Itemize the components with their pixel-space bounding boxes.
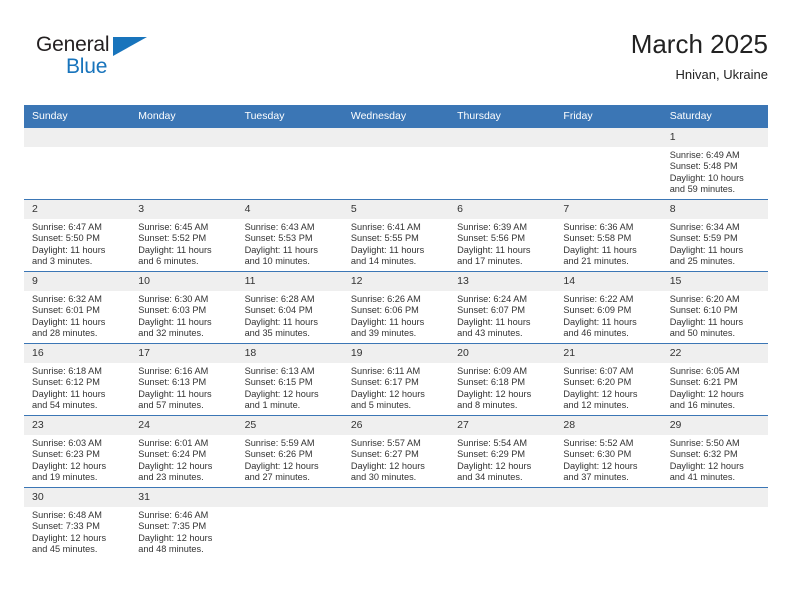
day-number: 10 <box>130 272 236 291</box>
weekday-header-wednesday: Wednesday <box>343 105 449 128</box>
day-number: 16 <box>24 344 130 363</box>
daylight-text-line2: and 1 minute. <box>245 400 337 411</box>
daylight-text-line1: Daylight: 11 hours <box>670 317 762 328</box>
day-number: 6 <box>449 200 555 219</box>
sunrise-text: Sunrise: 6:36 AM <box>563 222 655 233</box>
calendar-week-row: 30Sunrise: 6:48 AMSunset: 7:33 PMDayligh… <box>24 488 768 560</box>
daylight-text-line2: and 57 minutes. <box>138 400 230 411</box>
calendar-day-cell[interactable]: 13Sunrise: 6:24 AMSunset: 6:07 PMDayligh… <box>449 272 555 344</box>
calendar-page: General Blue March 2025 Hnivan, Ukraine … <box>0 0 792 612</box>
sunrise-text: Sunrise: 5:59 AM <box>245 438 337 449</box>
calendar-cell-empty <box>24 128 130 200</box>
daylight-text-line2: and 21 minutes. <box>563 256 655 267</box>
sunset-text: Sunset: 5:58 PM <box>563 233 655 244</box>
sunset-text: Sunset: 6:26 PM <box>245 449 337 460</box>
day-number: 27 <box>449 416 555 435</box>
calendar-day-cell[interactable]: 25Sunrise: 5:59 AMSunset: 6:26 PMDayligh… <box>237 416 343 488</box>
day-number: 31 <box>130 488 236 507</box>
sun-info: Sunrise: 6:16 AMSunset: 6:13 PMDaylight:… <box>130 363 236 412</box>
sunrise-text: Sunrise: 6:32 AM <box>32 294 124 305</box>
sunset-text: Sunset: 7:35 PM <box>138 521 230 532</box>
calendar-day-cell[interactable]: 9Sunrise: 6:32 AMSunset: 6:01 PMDaylight… <box>24 272 130 344</box>
daylight-text-line1: Daylight: 11 hours <box>138 389 230 400</box>
calendar-cell-empty <box>237 128 343 200</box>
sun-info: Sunrise: 6:05 AMSunset: 6:21 PMDaylight:… <box>662 363 768 412</box>
sun-info: Sunrise: 5:50 AMSunset: 6:32 PMDaylight:… <box>662 435 768 484</box>
day-number: 26 <box>343 416 449 435</box>
sunrise-text: Sunrise: 6:49 AM <box>670 150 762 161</box>
calendar-day-cell[interactable]: 4Sunrise: 6:43 AMSunset: 5:53 PMDaylight… <box>237 200 343 272</box>
calendar-cell-empty <box>555 128 661 200</box>
day-number: 25 <box>237 416 343 435</box>
daylight-text-line1: Daylight: 11 hours <box>32 389 124 400</box>
daylight-text-line2: and 59 minutes. <box>670 184 762 195</box>
calendar-cell-empty <box>343 488 449 560</box>
day-number <box>343 128 449 147</box>
sun-info: Sunrise: 6:09 AMSunset: 6:18 PMDaylight:… <box>449 363 555 412</box>
calendar-day-cell[interactable]: 22Sunrise: 6:05 AMSunset: 6:21 PMDayligh… <box>662 344 768 416</box>
daylight-text-line1: Daylight: 11 hours <box>670 245 762 256</box>
daylight-text-line1: Daylight: 12 hours <box>32 533 124 544</box>
daylight-text-line2: and 45 minutes. <box>32 544 124 555</box>
calendar-day-cell[interactable]: 3Sunrise: 6:45 AMSunset: 5:52 PMDaylight… <box>130 200 236 272</box>
sunrise-text: Sunrise: 5:57 AM <box>351 438 443 449</box>
calendar-day-cell[interactable]: 14Sunrise: 6:22 AMSunset: 6:09 PMDayligh… <box>555 272 661 344</box>
daylight-text-line1: Daylight: 11 hours <box>245 245 337 256</box>
sun-info: Sunrise: 6:03 AMSunset: 6:23 PMDaylight:… <box>24 435 130 484</box>
sunrise-text: Sunrise: 6:20 AM <box>670 294 762 305</box>
sunset-text: Sunset: 5:53 PM <box>245 233 337 244</box>
calendar-cell-empty <box>237 488 343 560</box>
weekday-header-row: Sunday Monday Tuesday Wednesday Thursday… <box>24 105 768 128</box>
sunrise-text: Sunrise: 6:28 AM <box>245 294 337 305</box>
sun-info: Sunrise: 6:46 AMSunset: 7:35 PMDaylight:… <box>130 507 236 556</box>
daylight-text-line2: and 28 minutes. <box>32 328 124 339</box>
weekday-header-monday: Monday <box>130 105 236 128</box>
day-number: 12 <box>343 272 449 291</box>
calendar-day-cell[interactable]: 17Sunrise: 6:16 AMSunset: 6:13 PMDayligh… <box>130 344 236 416</box>
page-title: March 2025 <box>631 28 768 60</box>
daylight-text-line2: and 25 minutes. <box>670 256 762 267</box>
sunset-text: Sunset: 6:10 PM <box>670 305 762 316</box>
sun-info: Sunrise: 6:48 AMSunset: 7:33 PMDaylight:… <box>24 507 130 556</box>
sun-info: Sunrise: 6:32 AMSunset: 6:01 PMDaylight:… <box>24 291 130 340</box>
calendar-day-cell[interactable]: 11Sunrise: 6:28 AMSunset: 6:04 PMDayligh… <box>237 272 343 344</box>
page-subtitle: Hnivan, Ukraine <box>631 66 768 84</box>
sunset-text: Sunset: 6:32 PM <box>670 449 762 460</box>
sunset-text: Sunset: 5:52 PM <box>138 233 230 244</box>
daylight-text-line1: Daylight: 11 hours <box>32 245 124 256</box>
sun-info: Sunrise: 6:39 AMSunset: 5:56 PMDaylight:… <box>449 219 555 268</box>
daylight-text-line2: and 8 minutes. <box>457 400 549 411</box>
calendar-header-row: Sunday Monday Tuesday Wednesday Thursday… <box>24 105 768 128</box>
sunset-text: Sunset: 6:06 PM <box>351 305 443 316</box>
sunset-text: Sunset: 5:56 PM <box>457 233 549 244</box>
sunrise-text: Sunrise: 6:34 AM <box>670 222 762 233</box>
sun-info: Sunrise: 6:18 AMSunset: 6:12 PMDaylight:… <box>24 363 130 412</box>
daylight-text-line2: and 17 minutes. <box>457 256 549 267</box>
sun-info: Sunrise: 6:41 AMSunset: 5:55 PMDaylight:… <box>343 219 449 268</box>
calendar-body: 1Sunrise: 6:49 AMSunset: 5:48 PMDaylight… <box>24 128 768 560</box>
sunset-text: Sunset: 6:20 PM <box>563 377 655 388</box>
weekday-header-saturday: Saturday <box>662 105 768 128</box>
sun-info: Sunrise: 6:47 AMSunset: 5:50 PMDaylight:… <box>24 219 130 268</box>
sunrise-text: Sunrise: 6:05 AM <box>670 366 762 377</box>
weekday-header-tuesday: Tuesday <box>237 105 343 128</box>
sun-info: Sunrise: 6:49 AMSunset: 5:48 PMDaylight:… <box>662 147 768 196</box>
sunrise-text: Sunrise: 6:24 AM <box>457 294 549 305</box>
sunrise-text: Sunrise: 5:52 AM <box>563 438 655 449</box>
day-number: 28 <box>555 416 661 435</box>
calendar-day-cell[interactable]: 29Sunrise: 5:50 AMSunset: 6:32 PMDayligh… <box>662 416 768 488</box>
sunset-text: Sunset: 6:03 PM <box>138 305 230 316</box>
daylight-text-line1: Daylight: 11 hours <box>351 317 443 328</box>
daylight-text-line2: and 43 minutes. <box>457 328 549 339</box>
daylight-text-line1: Daylight: 12 hours <box>457 461 549 472</box>
day-number: 11 <box>237 272 343 291</box>
sun-info: Sunrise: 5:52 AMSunset: 6:30 PMDaylight:… <box>555 435 661 484</box>
day-number <box>24 128 130 147</box>
daylight-text-line1: Daylight: 12 hours <box>563 461 655 472</box>
calendar-day-cell[interactable]: 15Sunrise: 6:20 AMSunset: 6:10 PMDayligh… <box>662 272 768 344</box>
day-number <box>130 128 236 147</box>
calendar-day-cell[interactable]: 31Sunrise: 6:46 AMSunset: 7:35 PMDayligh… <box>130 488 236 560</box>
day-number: 23 <box>24 416 130 435</box>
sun-info: Sunrise: 6:20 AMSunset: 6:10 PMDaylight:… <box>662 291 768 340</box>
daylight-text-line2: and 14 minutes. <box>351 256 443 267</box>
sun-info: Sunrise: 5:57 AMSunset: 6:27 PMDaylight:… <box>343 435 449 484</box>
day-number: 14 <box>555 272 661 291</box>
calendar-cell-empty <box>555 488 661 560</box>
sunrise-text: Sunrise: 6:22 AM <box>563 294 655 305</box>
day-number: 17 <box>130 344 236 363</box>
sun-info: Sunrise: 6:11 AMSunset: 6:17 PMDaylight:… <box>343 363 449 412</box>
calendar-day-cell[interactable]: 23Sunrise: 6:03 AMSunset: 6:23 PMDayligh… <box>24 416 130 488</box>
day-number: 15 <box>662 272 768 291</box>
sunrise-text: Sunrise: 5:54 AM <box>457 438 549 449</box>
logo-text-blue: Blue <box>66 56 107 78</box>
sunset-text: Sunset: 5:55 PM <box>351 233 443 244</box>
day-number <box>237 128 343 147</box>
sunset-text: Sunset: 5:50 PM <box>32 233 124 244</box>
calendar-day-cell[interactable]: 1Sunrise: 6:49 AMSunset: 5:48 PMDaylight… <box>662 128 768 200</box>
calendar-week-row: 1Sunrise: 6:49 AMSunset: 5:48 PMDaylight… <box>24 128 768 200</box>
daylight-text-line2: and 39 minutes. <box>351 328 443 339</box>
day-number: 21 <box>555 344 661 363</box>
sunset-text: Sunset: 6:23 PM <box>32 449 124 460</box>
sunrise-text: Sunrise: 5:50 AM <box>670 438 762 449</box>
daylight-text-line1: Daylight: 12 hours <box>563 389 655 400</box>
calendar-day-cell[interactable]: 7Sunrise: 6:36 AMSunset: 5:58 PMDaylight… <box>555 200 661 272</box>
day-number: 3 <box>130 200 236 219</box>
sunset-text: Sunset: 6:15 PM <box>245 377 337 388</box>
calendar-day-cell[interactable]: 21Sunrise: 6:07 AMSunset: 6:20 PMDayligh… <box>555 344 661 416</box>
sunrise-text: Sunrise: 6:47 AM <box>32 222 124 233</box>
daylight-text-line1: Daylight: 11 hours <box>563 317 655 328</box>
daylight-text-line1: Daylight: 10 hours <box>670 173 762 184</box>
daylight-text-line2: and 41 minutes. <box>670 472 762 483</box>
calendar-cell-empty <box>449 128 555 200</box>
calendar-week-row: 23Sunrise: 6:03 AMSunset: 6:23 PMDayligh… <box>24 416 768 488</box>
calendar-cell-empty <box>449 488 555 560</box>
calendar-day-cell[interactable]: 30Sunrise: 6:48 AMSunset: 7:33 PMDayligh… <box>24 488 130 560</box>
calendar-day-cell[interactable]: 26Sunrise: 5:57 AMSunset: 6:27 PMDayligh… <box>343 416 449 488</box>
daylight-text-line1: Daylight: 11 hours <box>457 317 549 328</box>
day-number: 20 <box>449 344 555 363</box>
sunset-text: Sunset: 6:24 PM <box>138 449 230 460</box>
sunset-text: Sunset: 6:30 PM <box>563 449 655 460</box>
sunset-text: Sunset: 6:07 PM <box>457 305 549 316</box>
calendar-cell-empty <box>343 128 449 200</box>
daylight-text-line1: Daylight: 12 hours <box>351 461 443 472</box>
calendar-week-row: 9Sunrise: 6:32 AMSunset: 6:01 PMDaylight… <box>24 272 768 344</box>
general-blue-logo: General Blue <box>36 34 186 92</box>
calendar-day-cell[interactable]: 2Sunrise: 6:47 AMSunset: 5:50 PMDaylight… <box>24 200 130 272</box>
daylight-text-line2: and 46 minutes. <box>563 328 655 339</box>
title-block: March 2025 Hnivan, Ukraine <box>631 28 768 84</box>
sunset-text: Sunset: 6:29 PM <box>457 449 549 460</box>
day-number: 9 <box>24 272 130 291</box>
daylight-text-line1: Daylight: 12 hours <box>138 533 230 544</box>
sun-info: Sunrise: 6:45 AMSunset: 5:52 PMDaylight:… <box>130 219 236 268</box>
daylight-text-line2: and 5 minutes. <box>351 400 443 411</box>
day-number <box>449 128 555 147</box>
sunset-text: Sunset: 6:17 PM <box>351 377 443 388</box>
daylight-text-line1: Daylight: 12 hours <box>670 389 762 400</box>
daylight-text-line1: Daylight: 11 hours <box>138 317 230 328</box>
daylight-text-line1: Daylight: 12 hours <box>138 461 230 472</box>
daylight-text-line2: and 23 minutes. <box>138 472 230 483</box>
calendar-day-cell[interactable]: 5Sunrise: 6:41 AMSunset: 5:55 PMDaylight… <box>343 200 449 272</box>
sunset-text: Sunset: 6:18 PM <box>457 377 549 388</box>
daylight-text-line2: and 35 minutes. <box>245 328 337 339</box>
daylight-text-line1: Daylight: 12 hours <box>32 461 124 472</box>
calendar-table: Sunday Monday Tuesday Wednesday Thursday… <box>24 105 768 560</box>
day-number: 19 <box>343 344 449 363</box>
sunrise-text: Sunrise: 6:46 AM <box>138 510 230 521</box>
calendar-day-cell[interactable]: 18Sunrise: 6:13 AMSunset: 6:15 PMDayligh… <box>237 344 343 416</box>
daylight-text-line2: and 54 minutes. <box>32 400 124 411</box>
day-number <box>237 488 343 507</box>
day-number: 13 <box>449 272 555 291</box>
daylight-text-line2: and 32 minutes. <box>138 328 230 339</box>
day-number <box>449 488 555 507</box>
sun-info: Sunrise: 6:22 AMSunset: 6:09 PMDaylight:… <box>555 291 661 340</box>
sunrise-text: Sunrise: 6:48 AM <box>32 510 124 521</box>
sun-info: Sunrise: 6:30 AMSunset: 6:03 PMDaylight:… <box>130 291 236 340</box>
calendar-day-cell[interactable]: 20Sunrise: 6:09 AMSunset: 6:18 PMDayligh… <box>449 344 555 416</box>
sun-info: Sunrise: 6:34 AMSunset: 5:59 PMDaylight:… <box>662 219 768 268</box>
sunset-text: Sunset: 6:13 PM <box>138 377 230 388</box>
daylight-text-line1: Daylight: 11 hours <box>138 245 230 256</box>
sun-info: Sunrise: 6:43 AMSunset: 5:53 PMDaylight:… <box>237 219 343 268</box>
daylight-text-line1: Daylight: 11 hours <box>245 317 337 328</box>
day-number: 24 <box>130 416 236 435</box>
daylight-text-line2: and 10 minutes. <box>245 256 337 267</box>
daylight-text-line1: Daylight: 12 hours <box>245 389 337 400</box>
calendar-day-cell[interactable]: 28Sunrise: 5:52 AMSunset: 6:30 PMDayligh… <box>555 416 661 488</box>
sunset-text: Sunset: 5:48 PM <box>670 161 762 172</box>
sunset-text: Sunset: 6:12 PM <box>32 377 124 388</box>
daylight-text-line2: and 12 minutes. <box>563 400 655 411</box>
daylight-text-line2: and 16 minutes. <box>670 400 762 411</box>
calendar-day-cell[interactable]: 24Sunrise: 6:01 AMSunset: 6:24 PMDayligh… <box>130 416 236 488</box>
daylight-text-line1: Daylight: 11 hours <box>32 317 124 328</box>
daylight-text-line2: and 34 minutes. <box>457 472 549 483</box>
sunrise-text: Sunrise: 6:45 AM <box>138 222 230 233</box>
calendar-week-row: 16Sunrise: 6:18 AMSunset: 6:12 PMDayligh… <box>24 344 768 416</box>
sunset-text: Sunset: 6:21 PM <box>670 377 762 388</box>
daylight-text-line2: and 30 minutes. <box>351 472 443 483</box>
sun-info: Sunrise: 6:13 AMSunset: 6:15 PMDaylight:… <box>237 363 343 412</box>
day-number: 4 <box>237 200 343 219</box>
daylight-text-line2: and 27 minutes. <box>245 472 337 483</box>
sun-info: Sunrise: 6:24 AMSunset: 6:07 PMDaylight:… <box>449 291 555 340</box>
sunset-text: Sunset: 6:27 PM <box>351 449 443 460</box>
day-number: 18 <box>237 344 343 363</box>
sunset-text: Sunset: 6:04 PM <box>245 305 337 316</box>
sunrise-text: Sunrise: 6:30 AM <box>138 294 230 305</box>
sunrise-text: Sunrise: 6:26 AM <box>351 294 443 305</box>
sunrise-text: Sunrise: 6:41 AM <box>351 222 443 233</box>
calendar-day-cell[interactable]: 8Sunrise: 6:34 AMSunset: 5:59 PMDaylight… <box>662 200 768 272</box>
calendar-cell-empty <box>130 128 236 200</box>
sunset-text: Sunset: 6:01 PM <box>32 305 124 316</box>
sun-info: Sunrise: 6:01 AMSunset: 6:24 PMDaylight:… <box>130 435 236 484</box>
sunrise-text: Sunrise: 6:13 AM <box>245 366 337 377</box>
logo-text-general: General <box>36 34 186 56</box>
sunrise-text: Sunrise: 6:01 AM <box>138 438 230 449</box>
sunset-text: Sunset: 5:59 PM <box>670 233 762 244</box>
daylight-text-line2: and 19 minutes. <box>32 472 124 483</box>
daylight-text-line2: and 3 minutes. <box>32 256 124 267</box>
daylight-text-line1: Daylight: 11 hours <box>563 245 655 256</box>
sunset-text: Sunset: 7:33 PM <box>32 521 124 532</box>
daylight-text-line1: Daylight: 12 hours <box>457 389 549 400</box>
sunset-text: Sunset: 6:09 PM <box>563 305 655 316</box>
sun-info: Sunrise: 6:36 AMSunset: 5:58 PMDaylight:… <box>555 219 661 268</box>
calendar-day-cell[interactable]: 19Sunrise: 6:11 AMSunset: 6:17 PMDayligh… <box>343 344 449 416</box>
day-number: 22 <box>662 344 768 363</box>
sunrise-text: Sunrise: 6:03 AM <box>32 438 124 449</box>
daylight-text-line2: and 50 minutes. <box>670 328 762 339</box>
sun-info: Sunrise: 5:54 AMSunset: 6:29 PMDaylight:… <box>449 435 555 484</box>
sun-info: Sunrise: 6:07 AMSunset: 6:20 PMDaylight:… <box>555 363 661 412</box>
daylight-text-line1: Daylight: 11 hours <box>351 245 443 256</box>
day-number <box>343 488 449 507</box>
day-number <box>662 488 768 507</box>
day-number <box>555 128 661 147</box>
day-number: 2 <box>24 200 130 219</box>
daylight-text-line1: Daylight: 12 hours <box>670 461 762 472</box>
day-number <box>555 488 661 507</box>
daylight-text-line1: Daylight: 12 hours <box>245 461 337 472</box>
day-number: 30 <box>24 488 130 507</box>
day-number: 5 <box>343 200 449 219</box>
sunrise-text: Sunrise: 6:43 AM <box>245 222 337 233</box>
weekday-header-sunday: Sunday <box>24 105 130 128</box>
daylight-text-line2: and 6 minutes. <box>138 256 230 267</box>
calendar-day-cell[interactable]: 10Sunrise: 6:30 AMSunset: 6:03 PMDayligh… <box>130 272 236 344</box>
calendar-cell-empty <box>662 488 768 560</box>
page-header: General Blue March 2025 Hnivan, Ukraine <box>24 28 768 100</box>
calendar-day-cell[interactable]: 12Sunrise: 6:26 AMSunset: 6:06 PMDayligh… <box>343 272 449 344</box>
daylight-text-line1: Daylight: 12 hours <box>351 389 443 400</box>
day-number: 8 <box>662 200 768 219</box>
weekday-header-thursday: Thursday <box>449 105 555 128</box>
sun-info: Sunrise: 6:26 AMSunset: 6:06 PMDaylight:… <box>343 291 449 340</box>
calendar-day-cell[interactable]: 27Sunrise: 5:54 AMSunset: 6:29 PMDayligh… <box>449 416 555 488</box>
daylight-text-line1: Daylight: 11 hours <box>457 245 549 256</box>
calendar-week-row: 2Sunrise: 6:47 AMSunset: 5:50 PMDaylight… <box>24 200 768 272</box>
day-number: 7 <box>555 200 661 219</box>
sunrise-text: Sunrise: 6:39 AM <box>457 222 549 233</box>
calendar-day-cell[interactable]: 16Sunrise: 6:18 AMSunset: 6:12 PMDayligh… <box>24 344 130 416</box>
sunrise-text: Sunrise: 6:18 AM <box>32 366 124 377</box>
day-number: 1 <box>662 128 768 147</box>
sun-info: Sunrise: 5:59 AMSunset: 6:26 PMDaylight:… <box>237 435 343 484</box>
triangle-icon <box>113 37 147 56</box>
sunrise-text: Sunrise: 6:11 AM <box>351 366 443 377</box>
sunrise-text: Sunrise: 6:16 AM <box>138 366 230 377</box>
daylight-text-line2: and 48 minutes. <box>138 544 230 555</box>
sunrise-text: Sunrise: 6:09 AM <box>457 366 549 377</box>
calendar-day-cell[interactable]: 6Sunrise: 6:39 AMSunset: 5:56 PMDaylight… <box>449 200 555 272</box>
weekday-header-friday: Friday <box>555 105 661 128</box>
sun-info: Sunrise: 6:28 AMSunset: 6:04 PMDaylight:… <box>237 291 343 340</box>
daylight-text-line2: and 37 minutes. <box>563 472 655 483</box>
day-number: 29 <box>662 416 768 435</box>
sunrise-text: Sunrise: 6:07 AM <box>563 366 655 377</box>
